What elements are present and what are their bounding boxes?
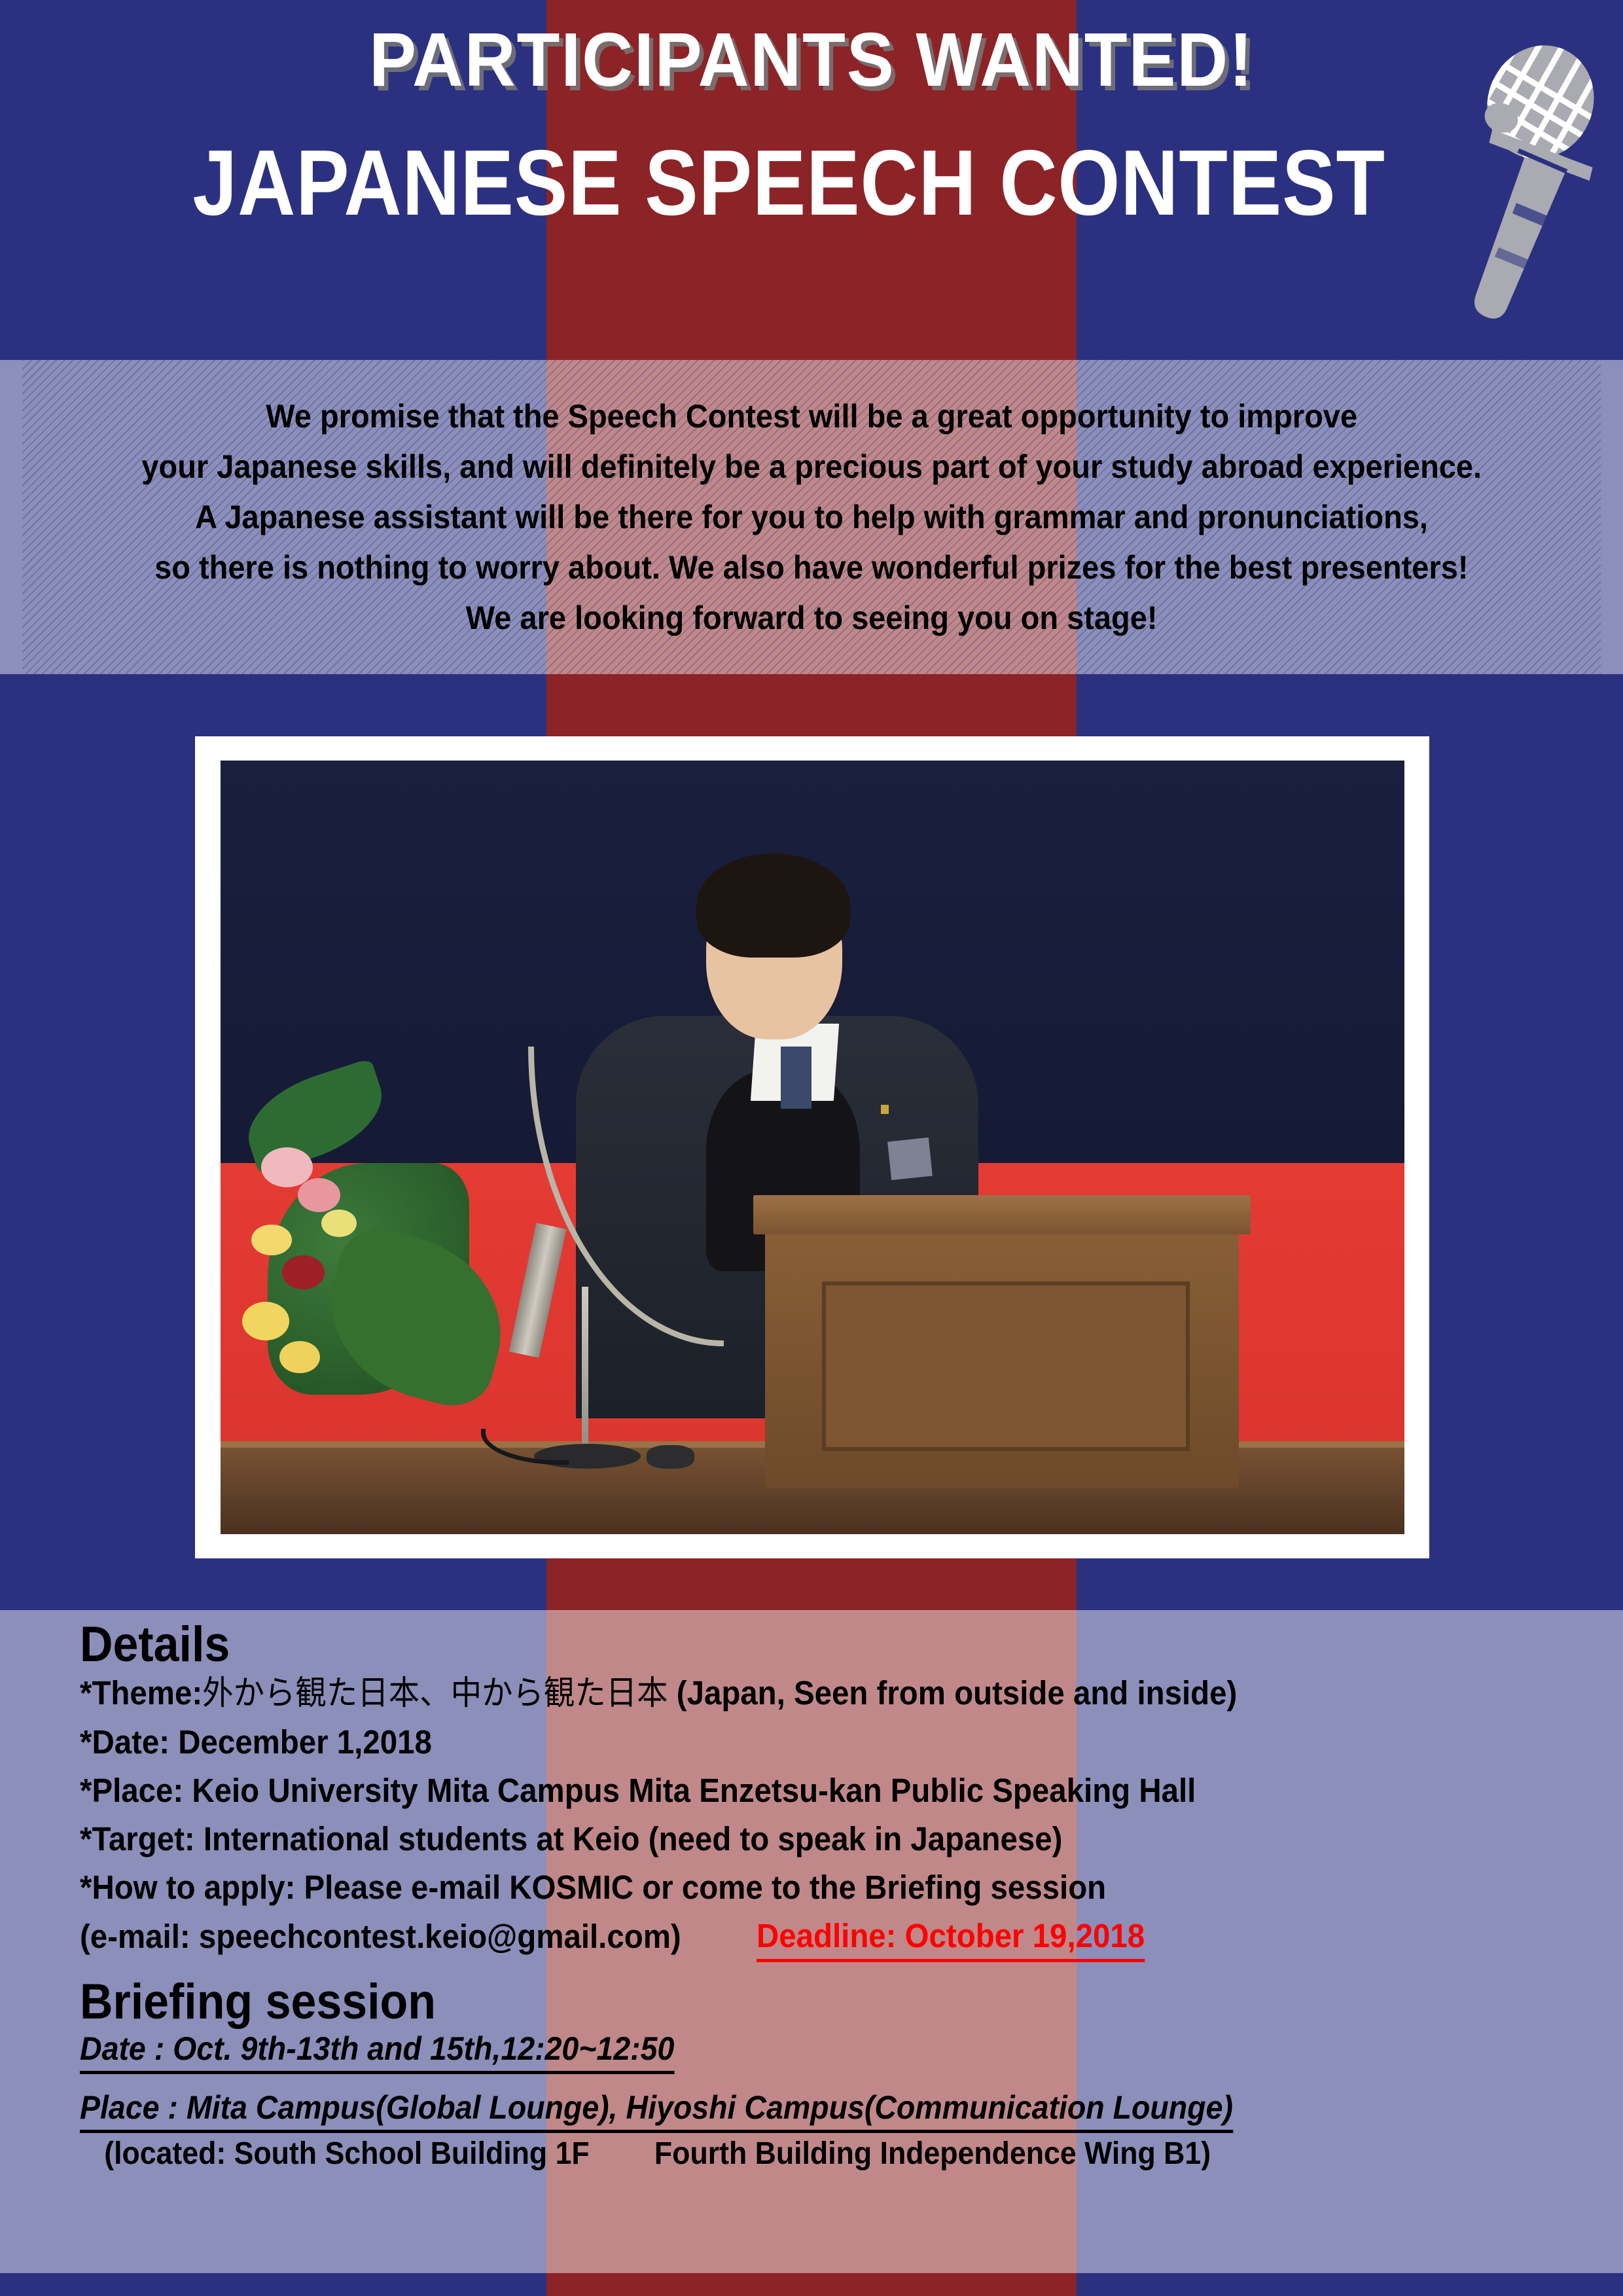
photo-xlr-connector [647,1445,694,1468]
photo-frame [195,736,1429,1558]
description-panel: We promise that the Speech Contest will … [22,360,1601,674]
photo-microphone-stand [582,1287,588,1457]
photo-flower-5 [242,1302,289,1340]
photo-podium [765,1210,1239,1488]
description-line-5: We are looking forward to seeing you on … [466,593,1158,643]
speech-contest-photo [221,761,1404,1534]
briefing-place-line: Place : Mita Campus(Global Lounge), Hiyo… [80,2089,1233,2133]
details-heading: Details [80,1619,1427,1670]
title-line-japanese-speech-contest: JAPANESE SPEECH CONTEST [114,130,1510,237]
details-panel: Details *Theme:外から観た日本、中から観た日本 (Japan, S… [63,1610,1561,2273]
details-deadline: Deadline: October 19,2018 [757,1916,1145,1962]
details-theme-english: (Japan, Seen from outside and inside) [668,1674,1238,1712]
photo-speaker-hair [696,853,850,958]
details-email-line: (e-mail: speechcontest.keio@gmail.com) [80,1916,681,1957]
photo-speaker-tie [781,1047,811,1109]
microphone-icon [1431,31,1607,339]
details-email-deadline-row: (e-mail: speechcontest.keio@gmail.com) D… [80,1916,1544,1962]
photo-flower-2 [298,1178,340,1212]
details-theme-line: *Theme:外から観た日本、中から観た日本 (Japan, Seen from… [80,1673,1441,1714]
details-date-line: *Date: December 1,2018 [80,1722,1441,1763]
description-line-1: We promise that the Speech Contest will … [266,391,1357,442]
details-place-line: *Place: Keio University Mita Campus Mita… [80,1770,1441,1811]
details-how-to-apply-line: *How to apply: Please e-mail KOSMIC or c… [80,1867,1441,1908]
photo-podium-panel [822,1282,1190,1451]
description-line-2: your Japanese skills, and will definitel… [141,442,1482,492]
description-line-4: so there is nothing to worry about. We a… [154,543,1468,593]
title-line-participants-wanted: PARTICIPANTS WANTED! [57,16,1566,103]
photo-speaker-lapel-pin [881,1105,889,1114]
briefing-located-line: (located: South School Building 1F Fourt… [80,2137,1441,2172]
photo-podium-top [753,1195,1251,1234]
photo-flower-6 [279,1341,320,1374]
briefing-date-line: Date : Oct. 9th-13th and 15th,12:20~12:5… [80,2030,674,2074]
poster: PARTICIPANTS WANTED! JAPANESE SPEECH CON… [0,0,1623,2296]
details-theme-japanese: 外から観た日本、中から観た日本 [202,1674,668,1713]
photo-flower-7 [321,1210,357,1238]
photo-flower-3 [251,1225,292,1255]
details-theme-label: *Theme: [80,1674,202,1712]
briefing-heading: Briefing session [80,1977,1427,2028]
photo-speaker-pocket-square [887,1138,933,1180]
details-target-line: *Target: International students at Keio … [80,1819,1441,1859]
description-line-3: A Japanese assistant will be there for y… [195,492,1428,543]
